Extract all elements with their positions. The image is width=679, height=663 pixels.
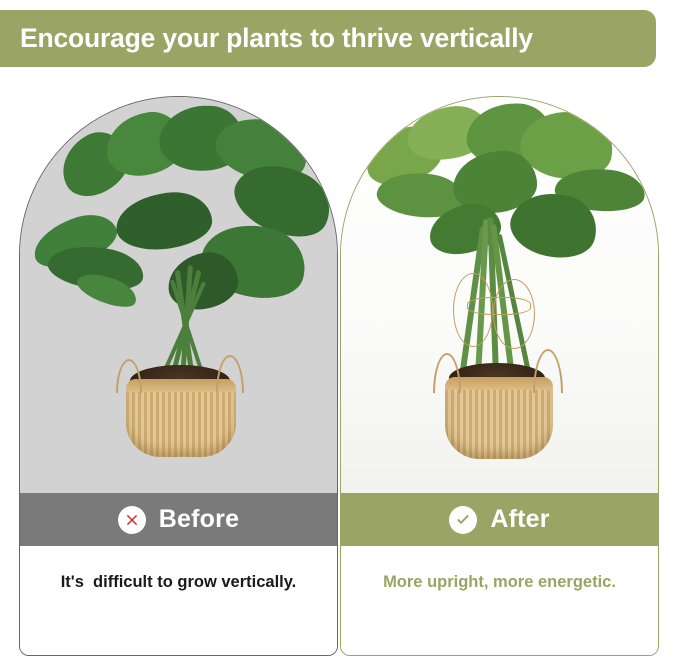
promo-graphic: Encourage your plants to thrive vertical… (0, 0, 679, 663)
before-label-text: Before (159, 505, 239, 534)
before-label-bar: Before (20, 493, 337, 546)
before-photo (20, 97, 337, 493)
before-panel: Before It's difficult to grow vertically… (19, 96, 338, 656)
after-label-bar: After (341, 493, 658, 546)
cross-circle-icon (118, 506, 146, 534)
plant-illustration-after (341, 97, 658, 493)
after-caption-text: More upright, more energetic. (383, 573, 616, 592)
after-panel: After More upright, more energetic. (340, 96, 659, 656)
after-caption: More upright, more energetic. (341, 546, 658, 656)
header-banner: Encourage your plants to thrive vertical… (0, 10, 656, 67)
after-label-text: After (490, 505, 549, 534)
check-circle-icon (449, 506, 477, 534)
before-caption: It's difficult to grow vertically. (20, 546, 337, 656)
plant-illustration-before (20, 97, 337, 493)
before-caption-text: It's difficult to grow vertically. (61, 573, 297, 592)
page-title: Encourage your plants to thrive vertical… (0, 23, 533, 54)
after-photo (341, 97, 658, 493)
